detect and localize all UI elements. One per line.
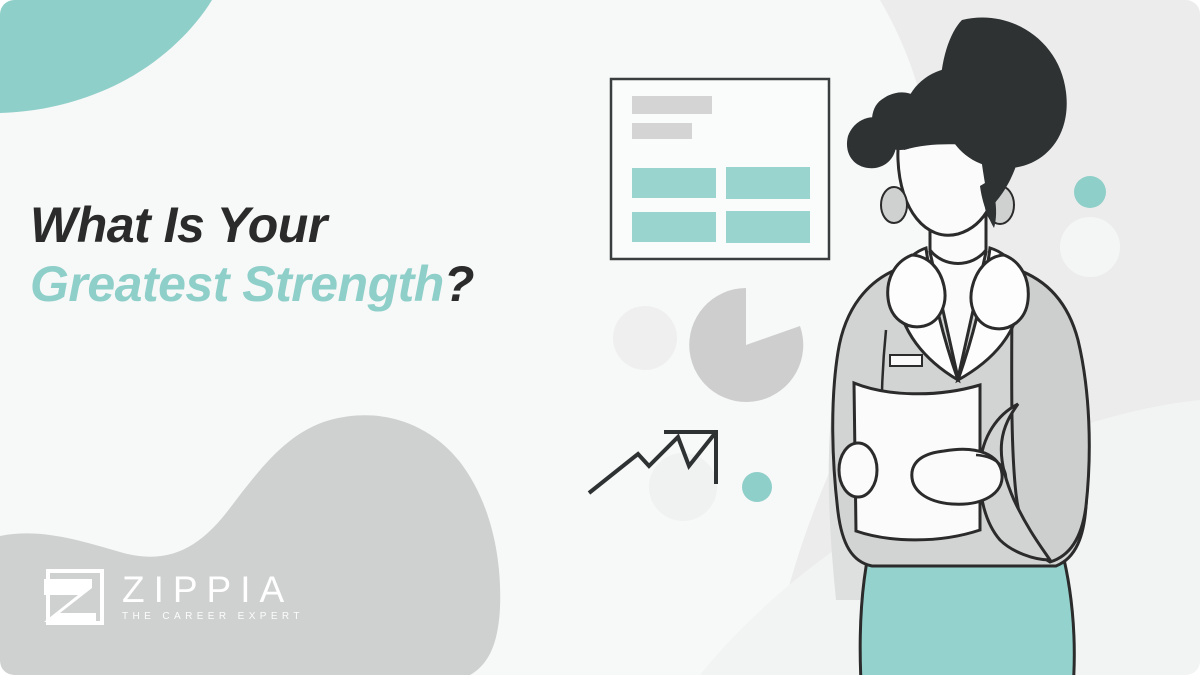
headline-question-mark: ? <box>444 256 474 312</box>
earring-left <box>881 187 907 223</box>
hand-left <box>839 443 877 497</box>
logo-tagline: THE CAREER EXPERT <box>122 610 304 624</box>
hair-bun-top <box>940 17 1067 168</box>
blazer-pocket <box>890 355 922 366</box>
logo-text-wrap: ZIPPIA THE CAREER EXPERT <box>122 571 304 624</box>
banner-canvas: What Is Your Greatest Strength? ZIPPIA T… <box>0 0 1200 675</box>
headline-line-1: What Is Your <box>30 196 570 255</box>
zippia-logo[interactable]: ZIPPIA THE CAREER EXPERT <box>44 568 304 626</box>
zippia-z-mark <box>44 568 106 626</box>
hair-puff-left-2 <box>847 117 896 168</box>
headline-accent-text: Greatest Strength <box>30 256 444 312</box>
headline-line-2: Greatest Strength? <box>30 255 570 314</box>
headline-block: What Is Your Greatest Strength? <box>30 196 570 314</box>
logo-wordmark: ZIPPIA <box>122 571 304 609</box>
